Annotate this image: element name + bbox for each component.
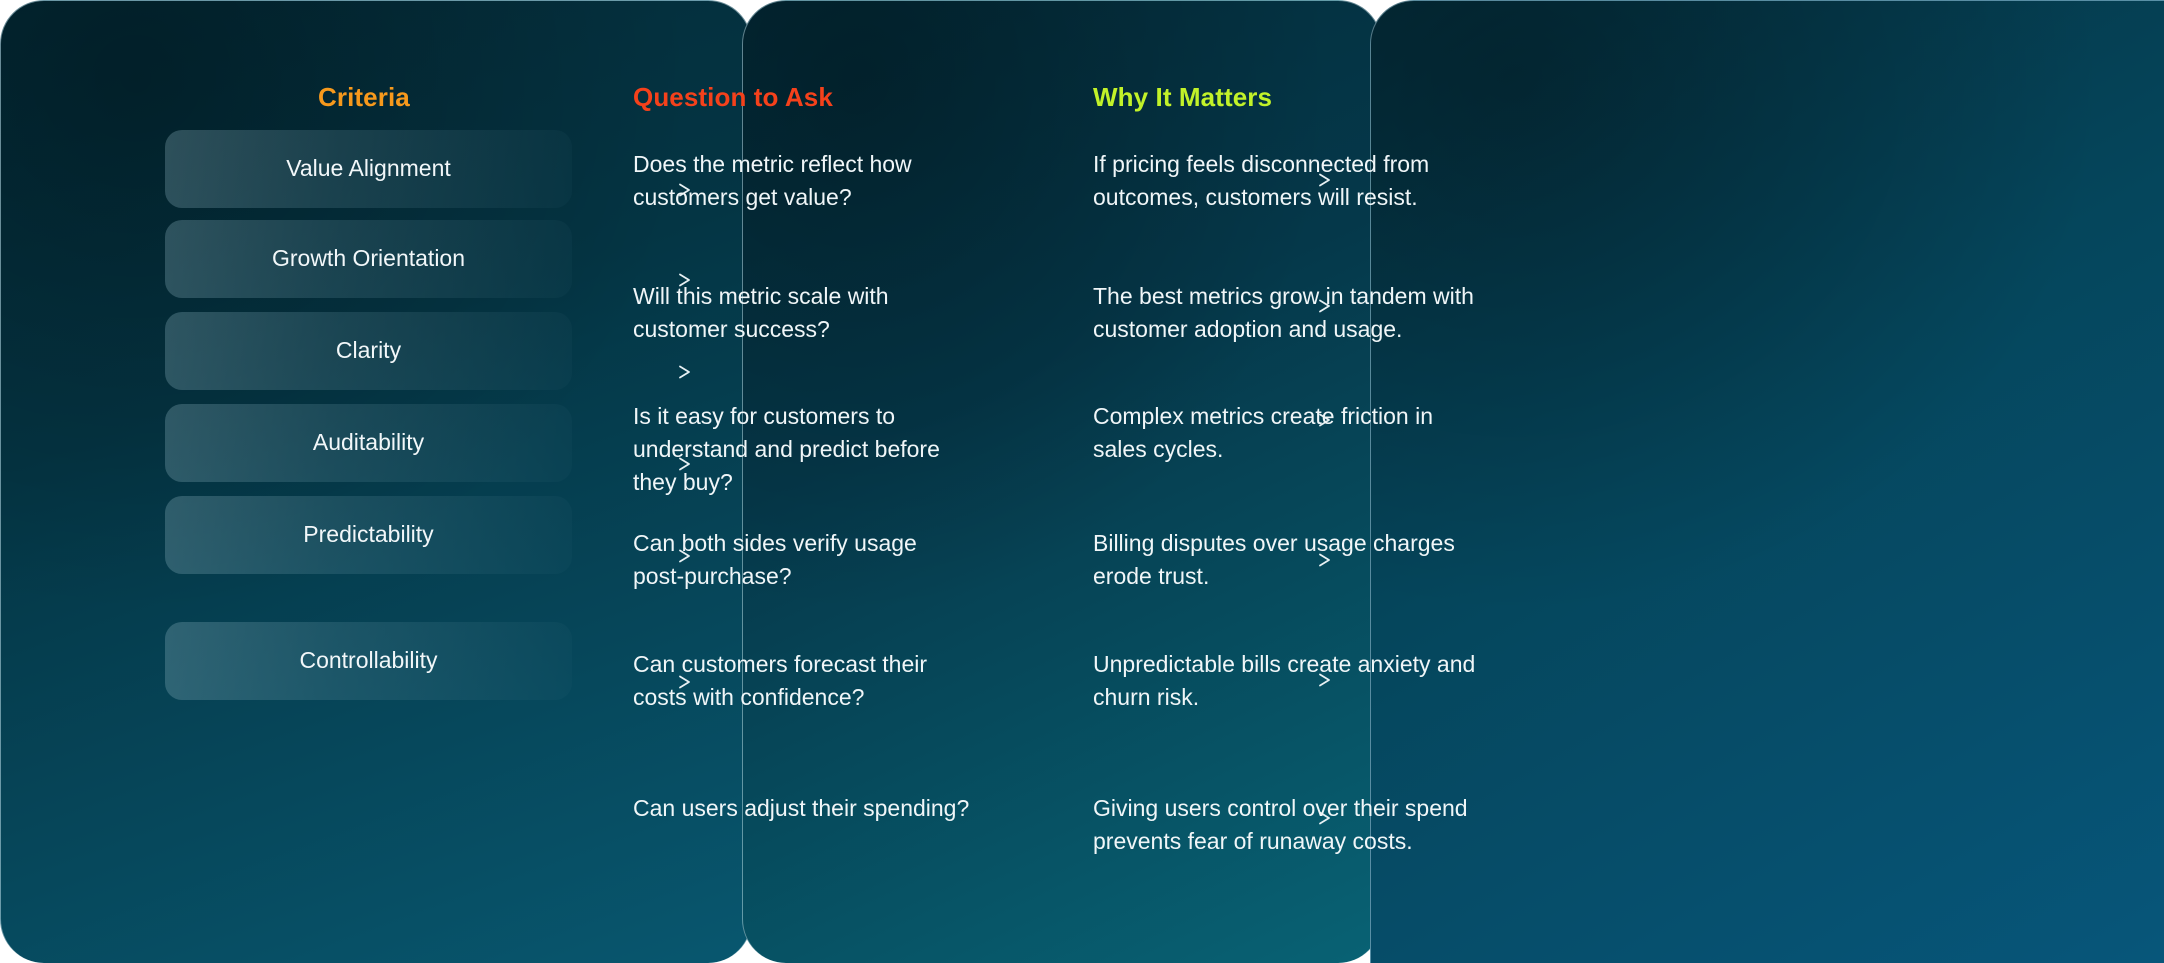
why-text: Billing disputes over usage charges erod…	[1093, 527, 1493, 593]
why-text: The best metrics grow in tandem with cus…	[1093, 280, 1493, 346]
why-text: Complex metrics create friction in sales…	[1093, 400, 1493, 466]
why-text: Unpredictable bills create anxiety and c…	[1093, 648, 1493, 714]
why-text: Giving users control over their spend pr…	[1093, 792, 1493, 858]
column-why: Why It Matters If pricing feels disconne…	[0, 0, 2164, 963]
column-header-why: Why It Matters	[1093, 82, 1272, 113]
why-text: If pricing feels disconnected from outco…	[1093, 148, 1493, 214]
comparison-table: Criteria Value Alignment Growth Orientat…	[0, 0, 2164, 963]
